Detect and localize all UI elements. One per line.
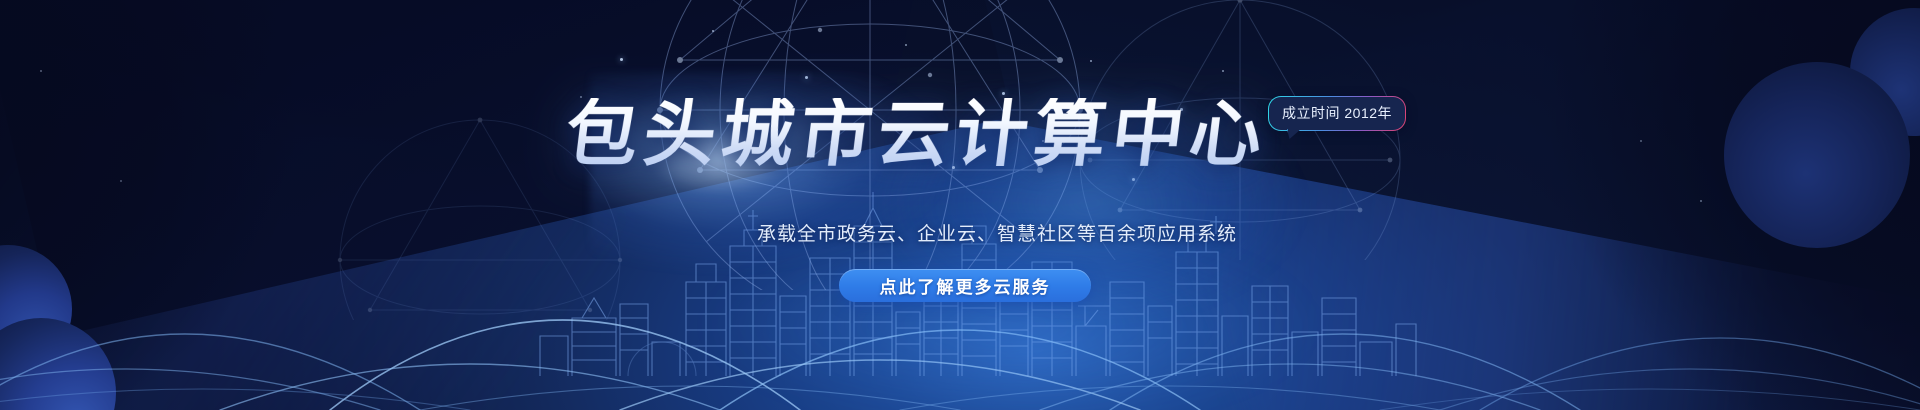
hero-banner: 包头城市云计算中心 成立时间 2012年 承载全市政务云、企业云、智慧社区等百余… [0, 0, 1920, 410]
established-badge: 成立时间 2012年 [1268, 96, 1406, 131]
page-title: 包头城市云计算中心 [562, 98, 1273, 170]
established-badge-text: 成立时间 2012年 [1282, 105, 1392, 121]
page-subtitle: 承载全市政务云、企业云、智慧社区等百余项应用系统 [757, 219, 1237, 246]
banner-content: 包头城市云计算中心 成立时间 2012年 承载全市政务云、企业云、智慧社区等百余… [0, 0, 1920, 410]
badge-tail [1287, 129, 1301, 139]
learn-more-cloud-services-button[interactable]: 点此了解更多云服务 [839, 269, 1091, 302]
